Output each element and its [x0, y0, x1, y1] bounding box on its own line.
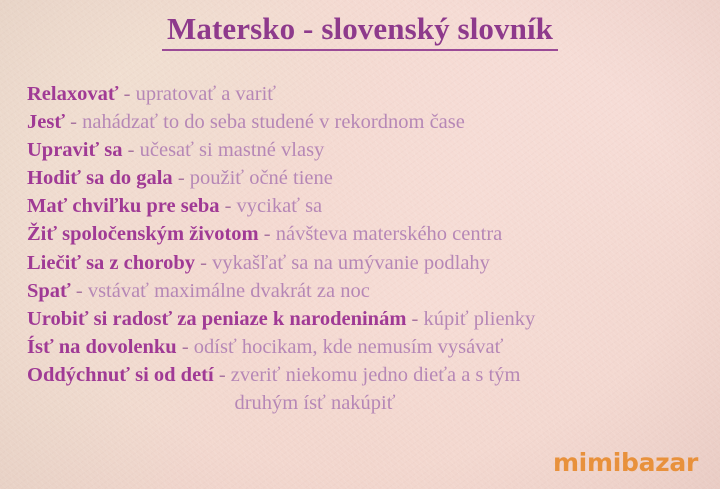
- dictionary-entry-list: Relaxovať - upratovať a variť Jesť - nah…: [27, 80, 699, 417]
- entry-definition: kúpiť plienky: [423, 308, 535, 330]
- entry-term: Liečiť sa z choroby: [27, 252, 195, 274]
- list-item: Žiť spoločenským životom - návšteva mate…: [27, 220, 699, 248]
- entry-term: Ísť na dovolenku: [27, 336, 177, 358]
- entry-term: Žiť spoločenským životom: [27, 223, 259, 245]
- list-item: Urobiť si radosť za peniaze k narodeniná…: [27, 305, 699, 333]
- entry-definition: zveriť niekomu jedno dieťa a s tým: [231, 364, 521, 386]
- page-title-text: Matersko - slovenský slovník: [162, 11, 558, 51]
- list-item: Mať chviľku pre seba - vycikať sa: [27, 192, 699, 220]
- mimibazar-watermark: mimibazar: [553, 448, 698, 477]
- list-item: Spať - vstávať maximálne dvakrát za noc: [27, 277, 699, 305]
- entry-term: Jesť: [27, 111, 65, 133]
- entry-definition: nahádzať to do seba studené v rekordnom …: [82, 111, 465, 133]
- entry-separator: -: [123, 139, 140, 161]
- list-item: Upraviť sa - učesať si mastné vlasy: [27, 136, 699, 164]
- entry-definition-continuation: druhým ísť nakúpiť: [27, 389, 699, 417]
- entry-term: Urobiť si radosť za peniaze k narodeniná…: [27, 308, 406, 330]
- entry-definition: vycikať sa: [237, 195, 323, 217]
- entry-definition: vstávať maximálne dvakrát za noc: [88, 280, 370, 302]
- entry-separator: -: [195, 252, 212, 274]
- entry-definition: vykašľať sa na umývanie podlahy: [212, 252, 490, 274]
- entry-separator: -: [119, 83, 136, 105]
- entry-term: Spať: [27, 280, 71, 302]
- entry-separator: -: [219, 195, 236, 217]
- entry-definition: učesať si mastné vlasy: [140, 139, 325, 161]
- entry-term: Oddýchnuť si od detí: [27, 364, 214, 386]
- entry-term: Mať chviľku pre seba: [27, 195, 219, 217]
- entry-separator: -: [214, 364, 231, 386]
- entry-definition: použiť očné tiene: [190, 167, 333, 189]
- list-item: Hodiť sa do gala - použiť očné tiene: [27, 164, 699, 192]
- entry-separator: -: [406, 308, 423, 330]
- entry-separator: -: [259, 223, 276, 245]
- list-item: Relaxovať - upratovať a variť: [27, 80, 699, 108]
- page-title: Matersko - slovenský slovník: [0, 11, 720, 47]
- list-item: Oddýchnuť si od detí - zveriť niekomu je…: [27, 361, 699, 417]
- poster-content: Matersko - slovenský slovník Relaxovať -…: [0, 0, 720, 489]
- poster: Matersko - slovenský slovník Relaxovať -…: [0, 0, 720, 489]
- entry-definition: odísť hocikam, kde nemusím vysávať: [194, 336, 504, 358]
- list-item: Ísť na dovolenku - odísť hocikam, kde ne…: [27, 333, 699, 361]
- entry-term: Relaxovať: [27, 83, 119, 105]
- entry-separator: -: [173, 167, 190, 189]
- entry-separator: -: [177, 336, 194, 358]
- entry-definition: návšteva materského centra: [276, 223, 503, 245]
- entry-definition: upratovať a variť: [136, 83, 276, 105]
- entry-separator: -: [71, 280, 88, 302]
- list-item: Liečiť sa z choroby - vykašľať sa na umý…: [27, 249, 699, 277]
- entry-separator: -: [65, 111, 82, 133]
- list-item: Jesť - nahádzať to do seba studené v rek…: [27, 108, 699, 136]
- entry-term: Upraviť sa: [27, 139, 123, 161]
- entry-term: Hodiť sa do gala: [27, 167, 173, 189]
